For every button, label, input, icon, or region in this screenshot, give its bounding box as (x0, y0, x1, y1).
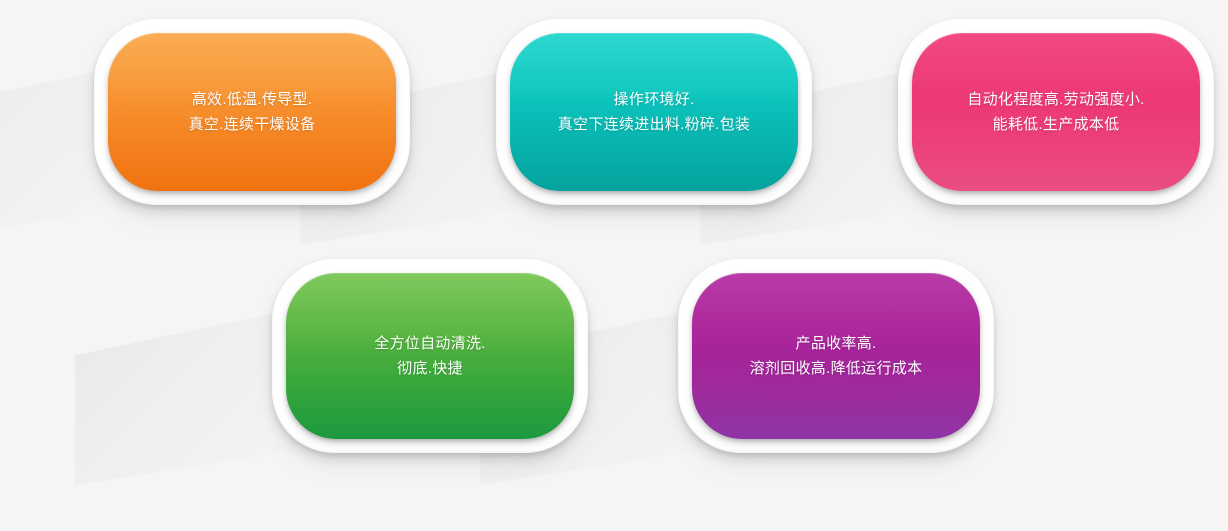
feature-card-teal[interactable]: 操作环境好. 真空下连续进出料.粉碎.包装 (496, 19, 812, 205)
feature-card-teal-panel: 操作环境好. 真空下连续进出料.粉碎.包装 (510, 33, 798, 191)
feature-card-pink-panel: 自动化程度高.劳动强度小. 能耗低.生产成本低 (912, 33, 1200, 191)
feature-card-purple[interactable]: 产品收率高. 溶剂回收高.降低运行成本 (678, 259, 994, 453)
feature-card-green-panel: 全方位自动清洗. 彻底.快捷 (286, 273, 574, 439)
feature-card-pink-text: 自动化程度高.劳动强度小. 能耗低.生产成本低 (957, 87, 1154, 137)
feature-card-teal-text: 操作环境好. 真空下连续进出料.粉碎.包装 (548, 87, 761, 137)
feature-card-orange-panel: 高效.低温.传导型. 真空.连续干燥设备 (108, 33, 396, 191)
feature-card-green-text: 全方位自动清洗. 彻底.快捷 (364, 331, 496, 381)
feature-card-green[interactable]: 全方位自动清洗. 彻底.快捷 (272, 259, 588, 453)
feature-card-purple-panel: 产品收率高. 溶剂回收高.降低运行成本 (692, 273, 980, 439)
feature-card-purple-text: 产品收率高. 溶剂回收高.降低运行成本 (740, 331, 933, 381)
infographic-stage: 高效.低温.传导型. 真空.连续干燥设备 操作环境好. 真空下连续进出料.粉碎.… (0, 0, 1228, 531)
feature-card-orange[interactable]: 高效.低温.传导型. 真空.连续干燥设备 (94, 19, 410, 205)
feature-card-pink[interactable]: 自动化程度高.劳动强度小. 能耗低.生产成本低 (898, 19, 1214, 205)
feature-card-orange-text: 高效.低温.传导型. 真空.连续干燥设备 (179, 87, 326, 137)
